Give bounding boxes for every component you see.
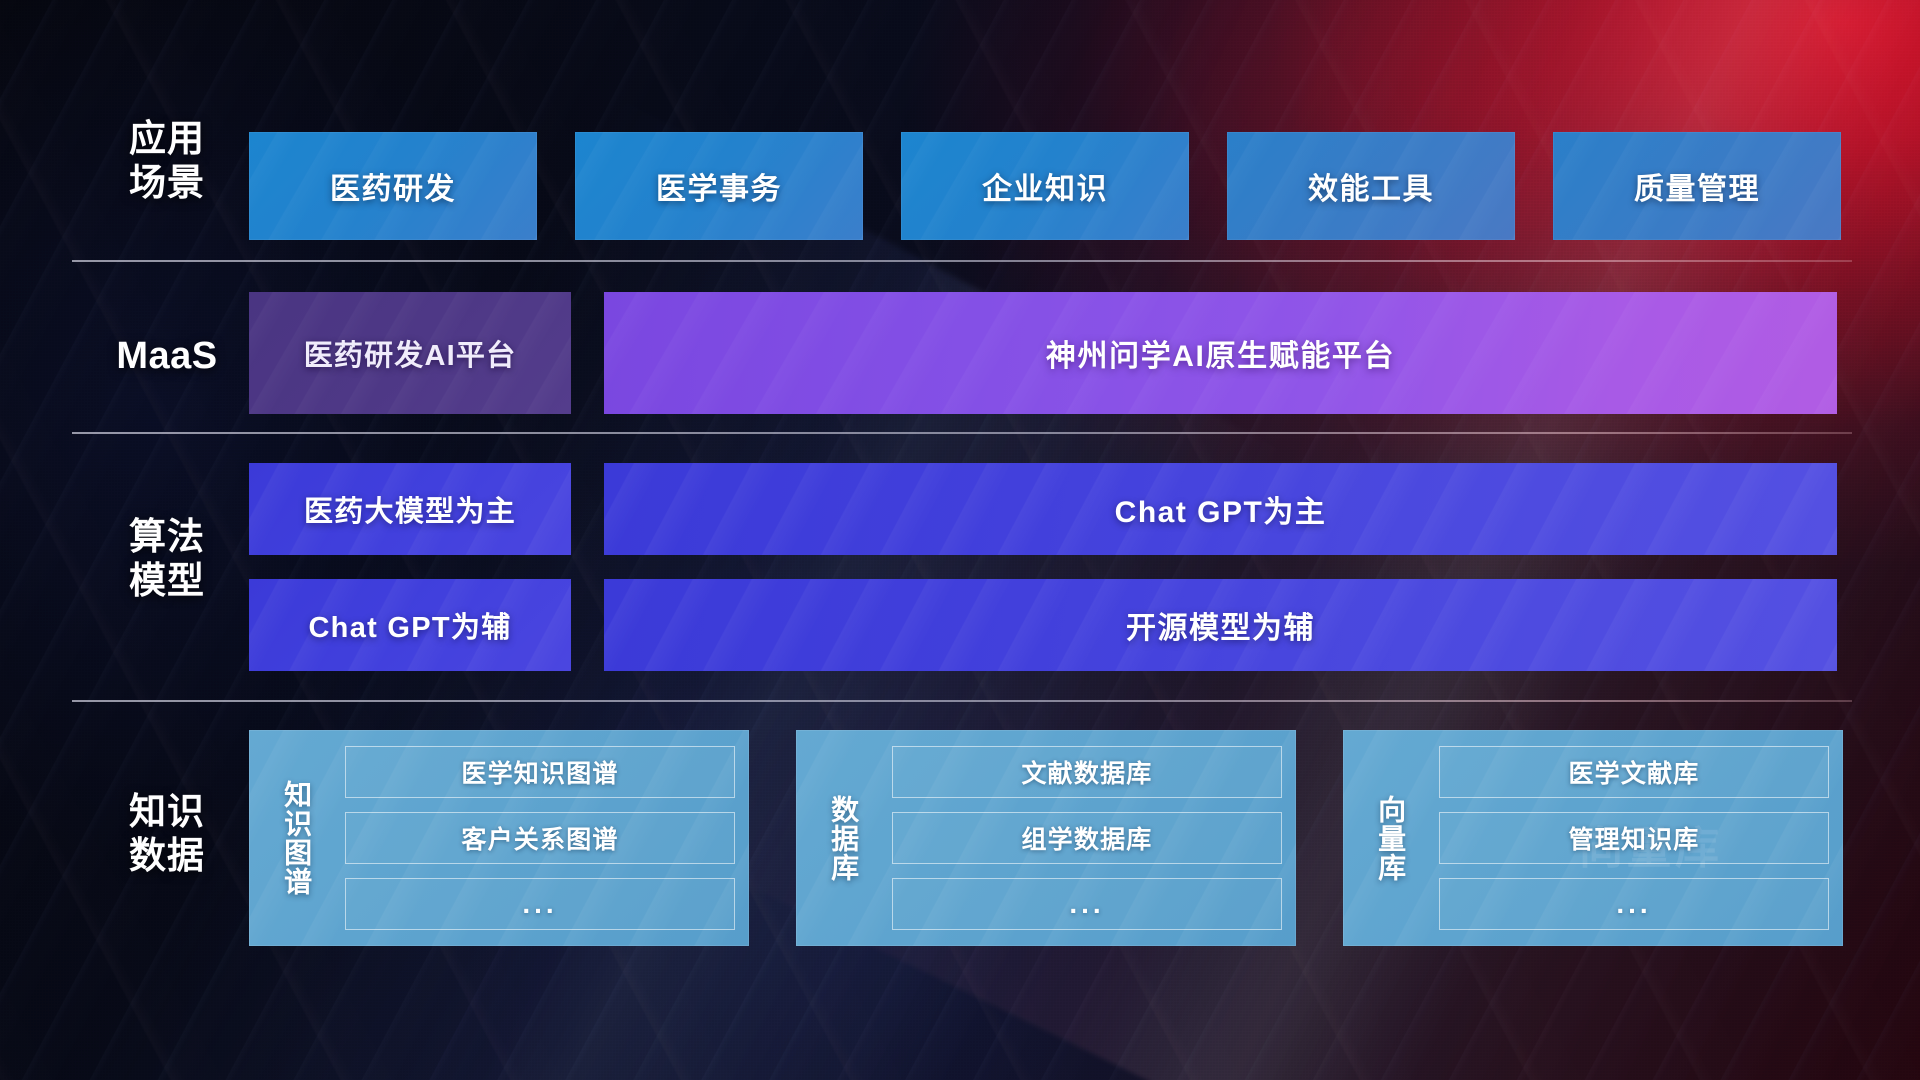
algorithm-card-label: 开源模型为辅 (1126, 603, 1315, 647)
algorithm-card-chatgpt-secondary[interactable]: Chat GPT为辅 (249, 579, 571, 671)
application-card-efficiency-tools[interactable]: 效能工具 (1227, 132, 1515, 240)
knowledge-item-medical-knowledge-graph[interactable]: 医学知识图谱 (345, 746, 735, 798)
knowledge-item-label: ... (1616, 888, 1651, 920)
row-label-algorithm: 算法 模型 (72, 515, 262, 602)
divider-maas-algorithm (72, 432, 1852, 434)
knowledge-group-list: 知识图谱 医学知识图谱 客户关系图谱 ... 数据库 (249, 730, 1843, 946)
application-card-label: 医学事务 (656, 164, 782, 208)
algorithm-card-list: 医药大模型为主 Chat GPT为主 Chat GPT为辅 开源模型为辅 (249, 463, 1837, 671)
application-card-medicine-rd[interactable]: 医药研发 (249, 132, 537, 240)
knowledge-item-label: ... (522, 888, 557, 920)
knowledge-item-label: 医学知识图谱 (461, 754, 618, 790)
algorithm-line-secondary: Chat GPT为辅 开源模型为辅 (249, 579, 1837, 671)
knowledge-group-title: 数据库 (812, 746, 874, 930)
knowledge-item-omics-database[interactable]: 组学数据库 (892, 812, 1282, 864)
knowledge-item-more[interactable]: ... (345, 878, 735, 930)
row-label-knowledge: 知识 数据 (72, 790, 262, 877)
maas-card-medicine-ai-platform[interactable]: 医药研发AI平台 (249, 292, 571, 414)
maas-card-list: 医药研发AI平台 神州问学AI原生赋能平台 (249, 292, 1837, 414)
knowledge-group-title: 向量库 (1359, 746, 1421, 930)
application-card-label: 效能工具 (1308, 164, 1434, 208)
knowledge-item-list: 医学文献库 管理知识库 ... (1439, 746, 1829, 930)
knowledge-item-label: ... (1069, 888, 1104, 920)
knowledge-item-label: 文献数据库 (1021, 754, 1152, 790)
knowledge-item-management-knowledge-store[interactable]: 管理知识库 (1439, 812, 1829, 864)
application-card-label: 企业知识 (982, 164, 1108, 208)
algorithm-card-medicine-llm-primary[interactable]: 医药大模型为主 (249, 463, 571, 555)
divider-algorithm-knowledge (72, 700, 1852, 702)
application-card-medical-affairs[interactable]: 医学事务 (575, 132, 863, 240)
knowledge-item-literature-database[interactable]: 文献数据库 (892, 746, 1282, 798)
application-card-list: 医药研发 医学事务 企业知识 效能工具 质量管理 (249, 132, 1841, 240)
algorithm-card-opensource-secondary[interactable]: 开源模型为辅 (604, 579, 1837, 671)
knowledge-item-label: 客户关系图谱 (461, 820, 618, 856)
knowledge-item-label: 医学文献库 (1568, 754, 1699, 790)
application-card-quality-management[interactable]: 质量管理 (1553, 132, 1841, 240)
knowledge-item-medical-literature-store[interactable]: 医学文献库 (1439, 746, 1829, 798)
application-card-label: 医药研发 (330, 164, 456, 208)
knowledge-item-customer-relation-graph[interactable]: 客户关系图谱 (345, 812, 735, 864)
knowledge-item-label: 组学数据库 (1021, 820, 1152, 856)
divider-applications-maas (72, 260, 1852, 262)
knowledge-item-list: 文献数据库 组学数据库 ... (892, 746, 1282, 930)
application-card-label: 质量管理 (1634, 164, 1760, 208)
knowledge-item-list: 医学知识图谱 客户关系图谱 ... (345, 746, 735, 930)
knowledge-item-label: 管理知识库 (1568, 820, 1699, 856)
algorithm-line-primary: 医药大模型为主 Chat GPT为主 (249, 463, 1837, 555)
row-label-maas: MaaS (72, 334, 262, 379)
knowledge-group-vector-store[interactable]: 向量库 医学文献库 管理知识库 ... 向量库 (1343, 730, 1843, 946)
algorithm-card-chatgpt-primary[interactable]: Chat GPT为主 (604, 463, 1837, 555)
algorithm-card-label: 医药大模型为主 (304, 488, 516, 530)
knowledge-item-more[interactable]: ... (892, 878, 1282, 930)
knowledge-group-knowledge-graph[interactable]: 知识图谱 医学知识图谱 客户关系图谱 ... (249, 730, 749, 946)
slide-canvas: 应用 场景 医药研发 医学事务 企业知识 效能工具 质量管理 (0, 0, 1920, 1080)
knowledge-item-more[interactable]: ... (1439, 878, 1829, 930)
maas-card-label: 医药研发AI平台 (304, 332, 517, 374)
row-label-applications: 应用 场景 (72, 117, 262, 204)
knowledge-group-title: 知识图谱 (265, 746, 327, 930)
maas-card-shenzhou-wenxue-platform[interactable]: 神州问学AI原生赋能平台 (604, 292, 1837, 414)
knowledge-group-database[interactable]: 数据库 文献数据库 组学数据库 ... (796, 730, 1296, 946)
algorithm-card-label: Chat GPT为主 (1115, 487, 1327, 531)
maas-card-label: 神州问学AI原生赋能平台 (1046, 331, 1395, 375)
algorithm-card-label: Chat GPT为辅 (308, 604, 511, 646)
application-card-enterprise-knowledge[interactable]: 企业知识 (901, 132, 1189, 240)
architecture-diagram: 应用 场景 医药研发 医学事务 企业知识 效能工具 质量管理 (0, 0, 1920, 1080)
